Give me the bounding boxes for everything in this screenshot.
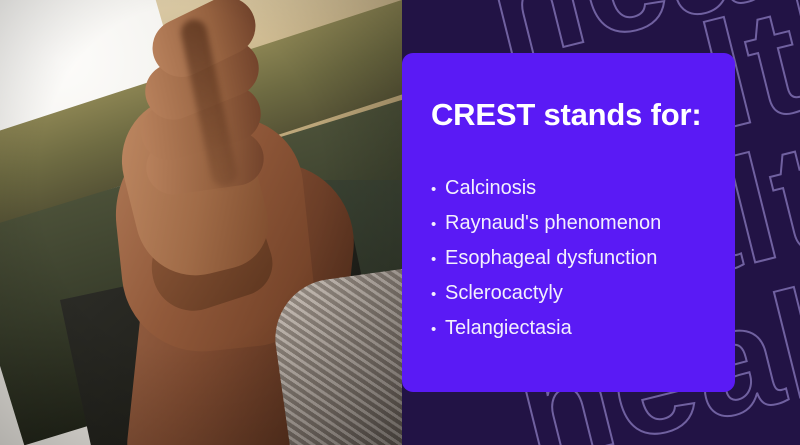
photo-vignette [0,0,402,445]
list-item: • Raynaud's phenomenon [431,206,661,241]
hands-photo [0,0,402,445]
list-item: • Calcinosis [431,171,661,206]
list-item: • Sclerocactyly [431,276,661,311]
bullet-dot-icon: • [431,312,445,347]
list-item-label: Esophageal dysfunction [445,241,657,276]
bullet-dot-icon: • [431,277,445,312]
crest-card: CREST stands for: • Calcinosis • Raynaud… [402,53,735,392]
crest-bullet-list: • Calcinosis • Raynaud's phenomenon • Es… [431,171,661,346]
list-item: • Esophageal dysfunction [431,241,661,276]
bullet-dot-icon: • [431,207,445,242]
bullet-dot-icon: • [431,242,445,277]
card-title: CREST stands for: [431,99,701,130]
bullet-dot-icon: • [431,172,445,207]
list-item: • Telangiectasia [431,311,661,346]
list-item-label: Calcinosis [445,171,536,206]
list-item-label: Telangiectasia [445,311,572,346]
infographic-canvas: health health health health CREST stands… [0,0,800,445]
list-item-label: Raynaud's phenomenon [445,206,661,241]
list-item-label: Sclerocactyly [445,276,563,311]
